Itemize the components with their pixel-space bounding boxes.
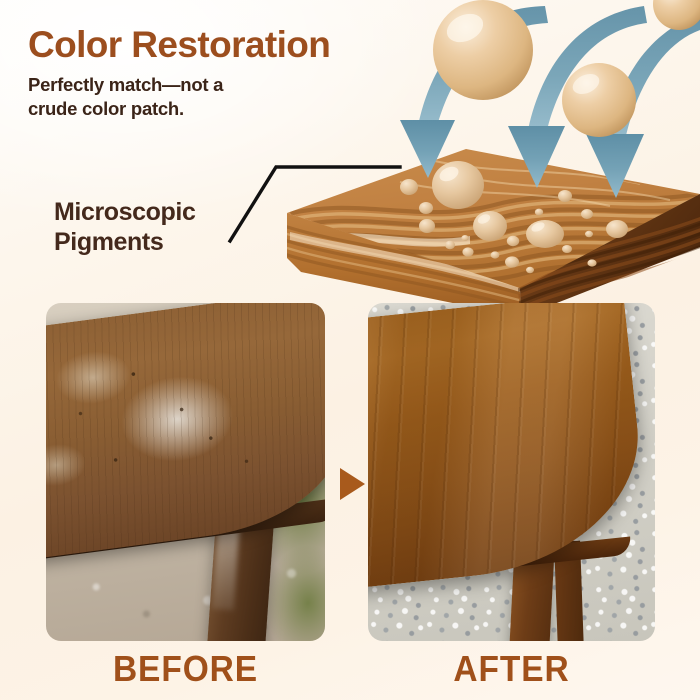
droplet bbox=[535, 209, 543, 216]
pigment-sphere-large bbox=[433, 0, 533, 100]
poster-canvas: Color Restoration Perfectly match—not a … bbox=[0, 0, 700, 700]
droplet bbox=[419, 202, 433, 214]
droplet bbox=[445, 241, 455, 249]
droplet bbox=[419, 219, 435, 233]
droplet bbox=[461, 235, 468, 241]
pigment-sphere-medium bbox=[562, 63, 636, 137]
droplet bbox=[606, 220, 628, 238]
droplet bbox=[587, 259, 596, 266]
droplet bbox=[473, 211, 507, 241]
droplet bbox=[491, 251, 500, 258]
droplet bbox=[462, 247, 473, 256]
after-photo-panel[interactable] bbox=[368, 303, 655, 641]
droplet bbox=[558, 190, 572, 202]
after-caption: AFTER bbox=[378, 648, 645, 692]
droplet bbox=[526, 267, 534, 273]
wood-block-illustration bbox=[0, 0, 700, 330]
droplet bbox=[562, 245, 572, 253]
droplet bbox=[432, 161, 484, 209]
before-caption: BEFORE bbox=[56, 648, 315, 692]
before-photo-panel[interactable] bbox=[46, 303, 325, 641]
play-triangle-icon bbox=[340, 468, 365, 500]
droplet bbox=[507, 236, 519, 246]
droplet bbox=[526, 220, 564, 248]
droplet bbox=[585, 231, 593, 237]
droplet bbox=[581, 209, 593, 219]
after-photo-image bbox=[368, 303, 655, 641]
before-photo-image bbox=[46, 303, 325, 641]
pigment-sphere-small-top bbox=[653, 0, 700, 30]
droplet bbox=[505, 256, 519, 267]
droplet bbox=[400, 179, 418, 195]
